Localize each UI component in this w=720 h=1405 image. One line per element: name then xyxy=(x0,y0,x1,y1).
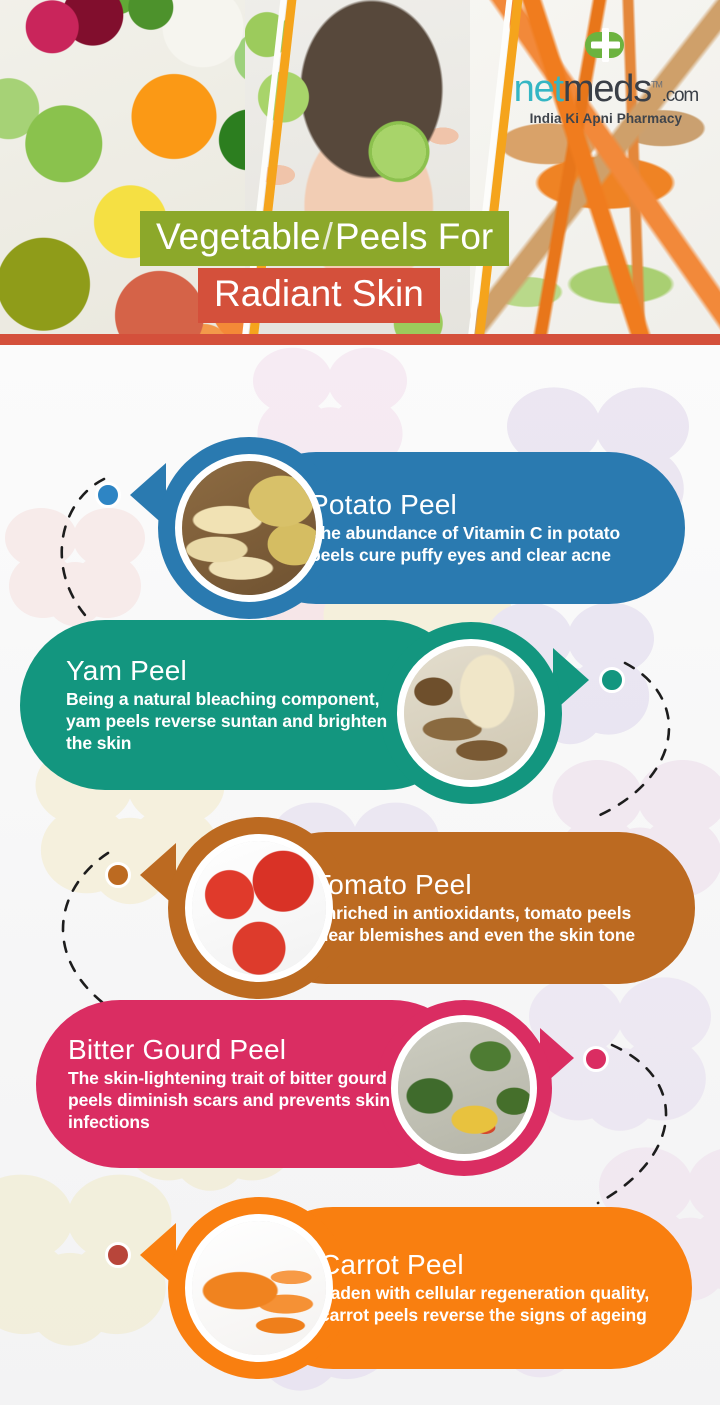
card-gourd-desc: The skin-lightening trait of bitter gour… xyxy=(68,1068,424,1134)
card-gourd-title: Bitter Gourd Peel xyxy=(68,1034,424,1066)
logo-net: net xyxy=(514,68,563,110)
cards-section: Potato Peel The abundance of Vitamin C i… xyxy=(0,345,720,1405)
card-bitter-gourd-peel[interactable]: Bitter Gourd Peel The skin-lightening tr… xyxy=(0,970,720,1170)
logo-trademark: TM xyxy=(651,79,662,89)
card-tomato-endpoint-dot xyxy=(105,862,131,888)
netmeds-capsule-icon xyxy=(575,22,637,68)
header-bottom-rule xyxy=(0,334,720,345)
card-carrot-title: Carrot Peel xyxy=(320,1249,674,1281)
title-words-peels-for: Peels For xyxy=(335,216,493,257)
card-potato-endpoint-dot xyxy=(95,482,121,508)
header-collage: netmedsTM.com India Ki Apni Pharmacy Veg… xyxy=(0,0,720,345)
netmeds-wordmark: netmedsTM.com xyxy=(514,70,698,108)
logo-dotcom: .com xyxy=(662,85,698,106)
card-yam-peel[interactable]: Yam Peel Being a natural bleaching compo… xyxy=(0,590,720,790)
card-yam-title: Yam Peel xyxy=(66,655,410,687)
card-potato-title: Potato Peel xyxy=(310,489,663,521)
card-gourd-endpoint-dot xyxy=(583,1046,609,1072)
card-carrot-endpoint-dot xyxy=(105,1242,131,1268)
card-potato-desc: The abundance of Vitamin C in potato pee… xyxy=(310,523,663,567)
card-yam-endpoint-dot xyxy=(599,667,625,693)
yam-peel-photo xyxy=(397,639,545,787)
card-tomato-desc: Enriched in antioxidants, tomato peels c… xyxy=(314,903,675,947)
card-tomato-peel[interactable]: Tomato Peel Enriched in antioxidants, to… xyxy=(0,785,720,985)
title-line-2: Radiant Skin xyxy=(198,268,440,323)
title-line-1: Vegetable/Peels For xyxy=(140,211,509,266)
potato-peel-photo xyxy=(175,454,323,602)
tomato-peel-photo xyxy=(185,834,333,982)
card-potato-peel[interactable]: Potato Peel The abundance of Vitamin C i… xyxy=(0,405,720,605)
card-yam-desc: Being a natural bleaching component, yam… xyxy=(66,689,410,755)
bitter-gourd-peel-photo xyxy=(391,1015,537,1161)
card-carrot-peel[interactable]: Carrot Peel Laden with cellular regenera… xyxy=(0,1165,720,1365)
infographic-page: netmedsTM.com India Ki Apni Pharmacy Veg… xyxy=(0,0,720,1405)
title-slash: / xyxy=(321,216,335,257)
card-carrot-desc: Laden with cellular regeneration quality… xyxy=(320,1283,674,1327)
logo-tagline: India Ki Apni Pharmacy xyxy=(514,111,698,126)
logo-meds: meds xyxy=(563,68,651,110)
netmeds-logo[interactable]: netmedsTM.com India Ki Apni Pharmacy xyxy=(514,22,698,126)
card-tomato-title: Tomato Peel xyxy=(314,869,675,901)
page-title: Vegetable/Peels For Radiant Skin xyxy=(140,211,509,323)
title-word-vegetable: Vegetable xyxy=(156,216,321,257)
carrot-peel-photo xyxy=(185,1214,333,1362)
